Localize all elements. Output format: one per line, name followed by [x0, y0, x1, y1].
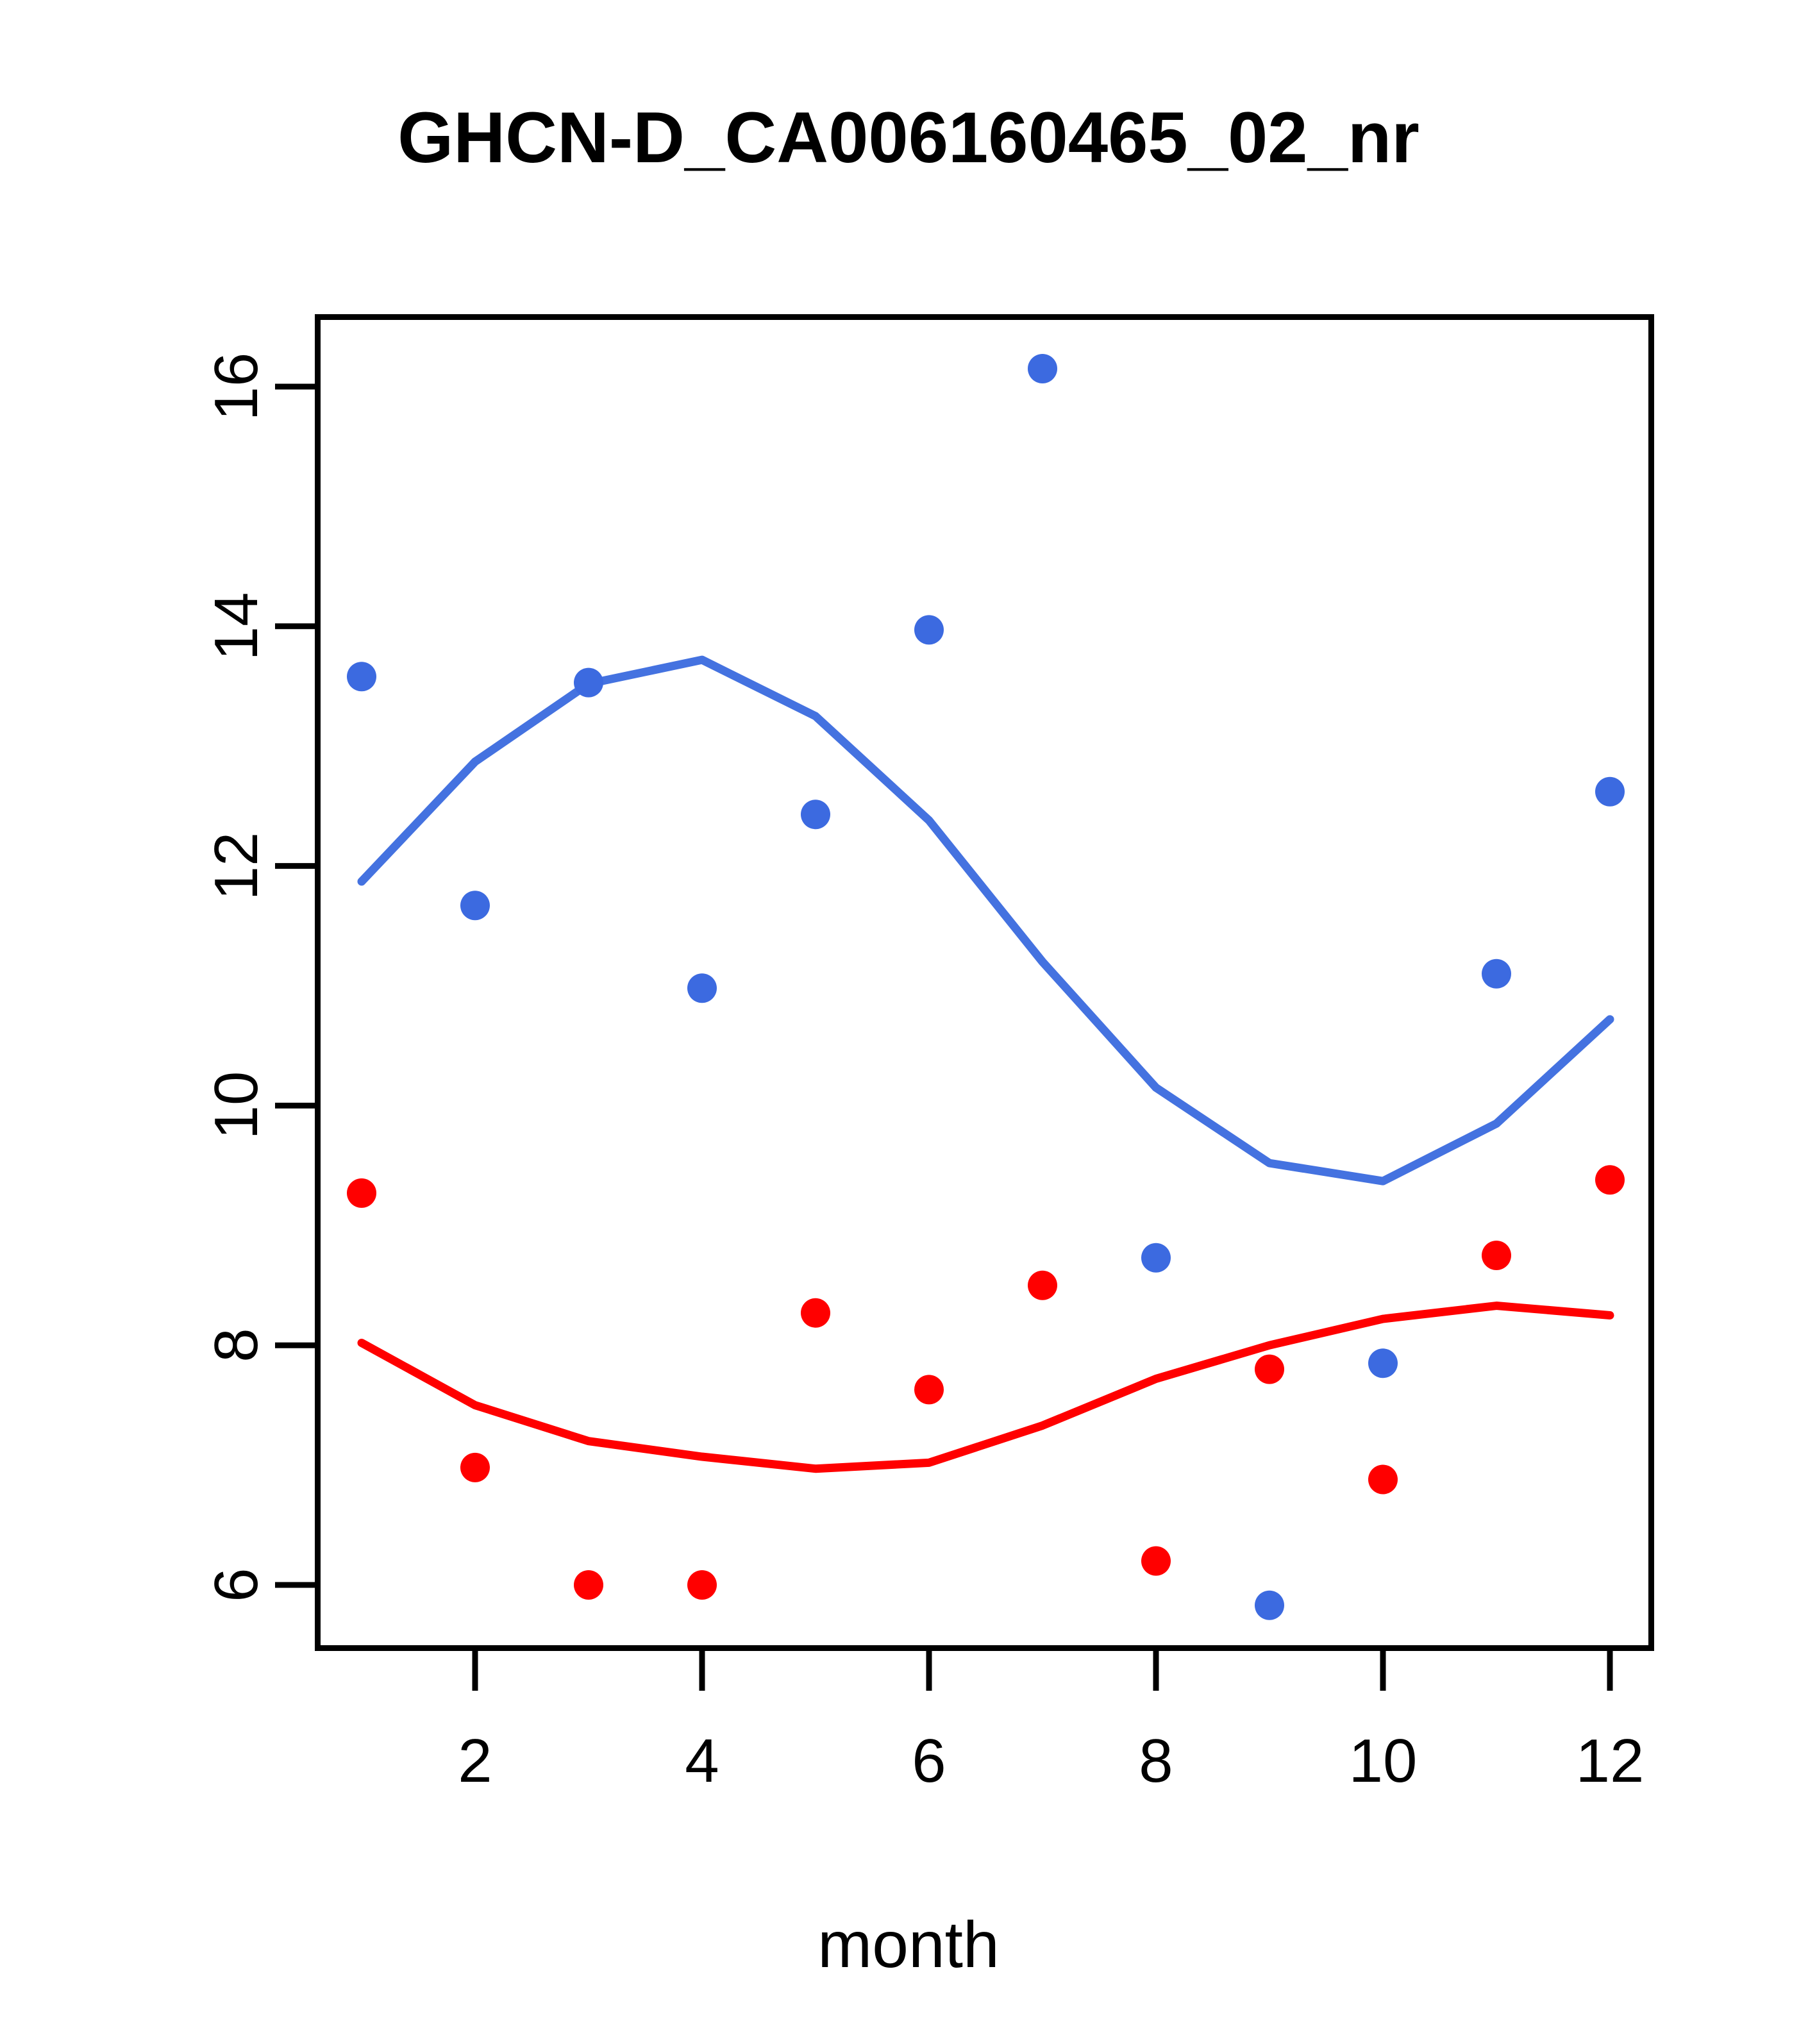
- y-axis-tick-label: 10: [201, 1041, 272, 1169]
- x-axis-tick-label: 12: [1527, 1726, 1693, 1797]
- x-axis-tick-label: 2: [392, 1726, 558, 1797]
- chart-page: GHCN-D_CA006160465_02_nr 6810121416 2468…: [0, 0, 1817, 2044]
- page-title: GHCN-D_CA006160465_02_nr: [0, 96, 1817, 179]
- y-axis-tick-label: 14: [201, 562, 272, 691]
- x-axis-tick-label: 8: [1073, 1726, 1239, 1797]
- x-axis-tick-label: 6: [846, 1726, 1012, 1797]
- x-axis-tick-label: 10: [1300, 1726, 1466, 1797]
- x-axis-title: month: [0, 1907, 1817, 1982]
- y-axis-tick-label: 12: [201, 802, 272, 930]
- x-axis-tick-label: 4: [619, 1726, 785, 1797]
- y-axis-tick-label: 16: [201, 323, 272, 451]
- y-axis-tick-label: 6: [201, 1521, 272, 1649]
- x-axis-ticks: [475, 1651, 1610, 1691]
- y-axis-ticks: [275, 387, 315, 1585]
- plot-panel: [315, 314, 1654, 1651]
- y-axis-tick-label: 8: [201, 1281, 272, 1409]
